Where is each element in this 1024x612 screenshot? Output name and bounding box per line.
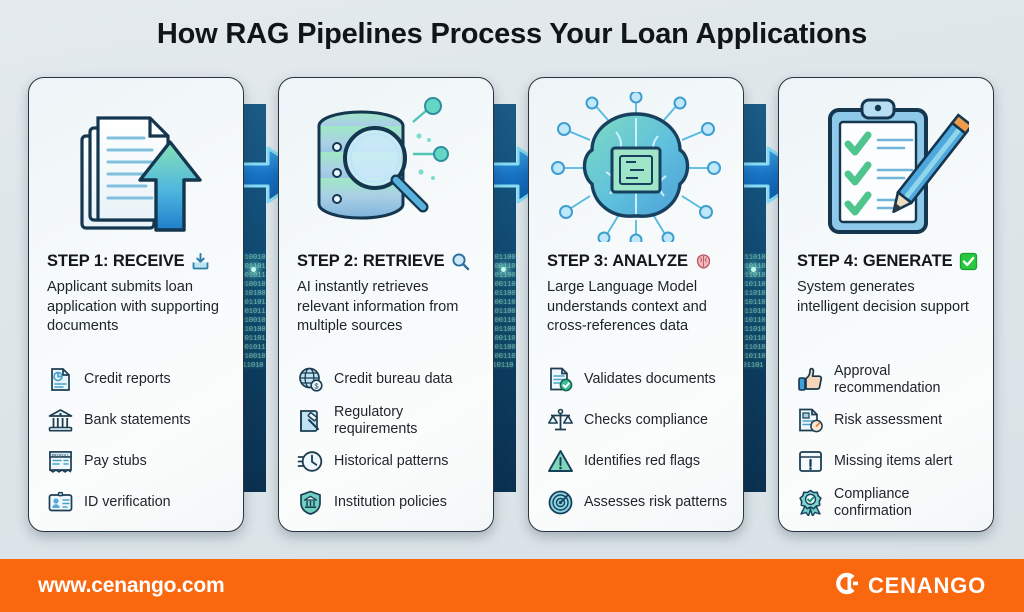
step-card-3[interactable]: STEP 3: ANALYZE Large Language Model und… [528, 77, 744, 532]
step-2-heading: STEP 2: RETRIEVE [297, 252, 445, 271]
step-2-bullets: $ Credit bureau data Regulatory requirem… [297, 359, 485, 523]
page-title: How RAG Pipelines Process Your Loan Appl… [0, 18, 1024, 51]
document-check-icon [547, 366, 574, 393]
svg-text:PAYROLL: PAYROLL [52, 452, 71, 457]
list-item[interactable]: PAYROLL Pay stubs [47, 441, 235, 482]
list-item-label: Checks compliance [584, 412, 708, 429]
list-item[interactable]: Historical patterns [297, 441, 485, 482]
list-item[interactable]: Checks compliance [547, 400, 735, 441]
radar-target-icon [547, 489, 574, 516]
list-item[interactable]: Missing items alert [797, 441, 985, 482]
step-4-heading-row: STEP 4: GENERATE [797, 252, 983, 271]
list-item-label: Regulatory requirements [334, 404, 485, 438]
thumbs-up-icon [797, 366, 824, 393]
law-book-gavel-icon [297, 407, 324, 434]
brand-name: CENANGO [868, 573, 986, 599]
brand-lockup: CENANGO [834, 571, 986, 601]
step-2-description: AI instantly retrieves relevant informat… [297, 278, 479, 337]
list-item-label: Risk assessment [834, 412, 942, 429]
step-4-bullets: Approval recommendation Risk assessment [797, 359, 985, 523]
step-card-2[interactable]: STEP 2: RETRIEVE AI instantly retrieves … [278, 77, 494, 532]
ai-brain-circuit-icon [529, 92, 743, 242]
documents-upload-icon [29, 92, 243, 242]
id-card-icon [47, 489, 74, 516]
shield-bank-icon [297, 489, 324, 516]
list-item-label: Compliance confirmation [834, 486, 985, 520]
alert-window-icon [797, 448, 824, 475]
list-item[interactable]: Approval recommendation [797, 359, 985, 400]
cenango-logo-icon [834, 571, 859, 601]
list-item[interactable]: Identifies red flags [547, 441, 735, 482]
list-item[interactable]: Regulatory requirements [297, 400, 485, 441]
footer-website-url[interactable]: www.cenango.com [38, 574, 224, 598]
list-item[interactable]: Bank statements [47, 400, 235, 441]
list-item[interactable]: $ Credit bureau data [297, 359, 485, 400]
clock-history-icon [297, 448, 324, 475]
list-item[interactable]: Institution policies [297, 482, 485, 523]
list-item-label: Credit reports [84, 371, 171, 388]
strip-glow-dot [251, 267, 256, 272]
step-1-bullets: Credit reports Bank statements [47, 359, 235, 523]
brain-icon [694, 252, 713, 271]
credit-report-icon [47, 366, 74, 393]
step-3-bullets: Validates documents Checks compliance [547, 359, 735, 523]
list-item-label: Historical patterns [334, 453, 448, 470]
list-item[interactable]: Assesses risk patterns [547, 482, 735, 523]
green-check-box-icon [959, 252, 978, 271]
step-3-heading: STEP 3: ANALYZE [547, 252, 688, 271]
magnifier-icon [451, 252, 470, 271]
strip-glow-dot [751, 267, 756, 272]
step-1-heading-row: STEP 1: RECEIVE [47, 252, 233, 271]
list-item[interactable]: Compliance confirmation [797, 482, 985, 523]
list-item-label: Validates documents [584, 371, 716, 388]
strip-glow-dot [501, 267, 506, 272]
step-3-description: Large Language Model understands context… [547, 278, 729, 337]
footer-bar: www.cenango.com CENANGO [0, 559, 1024, 612]
warning-triangle-icon [547, 448, 574, 475]
step-card-4[interactable]: STEP 4: GENERATE System generates intell… [778, 77, 994, 532]
list-item-label: Assesses risk patterns [584, 494, 727, 511]
clipboard-checklist-pencil-icon [779, 92, 993, 242]
report-gauge-icon [797, 407, 824, 434]
globe-dollar-icon: $ [297, 366, 324, 393]
list-item-label: Bank statements [84, 412, 191, 429]
scales-icon [547, 407, 574, 434]
list-item[interactable]: ID verification [47, 482, 235, 523]
list-item-label: Pay stubs [84, 453, 147, 470]
step-1-heading: STEP 1: RECEIVE [47, 252, 185, 271]
list-item-label: ID verification [84, 494, 171, 511]
step-4-description: System generates intelligent decision su… [797, 278, 979, 317]
list-item-label: Institution policies [334, 494, 447, 511]
payroll-icon: PAYROLL [47, 448, 74, 475]
list-item[interactable]: Credit reports [47, 359, 235, 400]
database-search-icon [279, 92, 493, 242]
award-ribbon-check-icon [797, 489, 824, 516]
step-4-heading: STEP 4: GENERATE [797, 252, 953, 271]
list-item[interactable]: Risk assessment [797, 400, 985, 441]
list-item[interactable]: Validates documents [547, 359, 735, 400]
inbox-download-icon [191, 252, 210, 271]
bank-icon [47, 407, 74, 434]
step-3-heading-row: STEP 3: ANALYZE [547, 252, 733, 271]
list-item-label: Credit bureau data [334, 371, 452, 388]
step-2-heading-row: STEP 2: RETRIEVE [297, 252, 483, 271]
list-item-label: Approval recommendation [834, 363, 985, 397]
step-1-description: Applicant submits loan application with … [47, 278, 229, 337]
step-card-1[interactable]: STEP 1: RECEIVE Applicant submits loan a… [28, 77, 244, 532]
list-item-label: Identifies red flags [584, 453, 700, 470]
list-item-label: Missing items alert [834, 453, 952, 470]
